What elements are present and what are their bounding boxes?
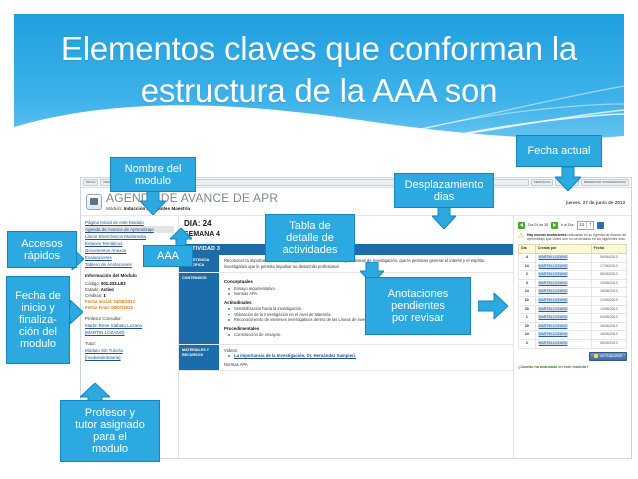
callout-aaa-text: AAA bbox=[144, 250, 192, 262]
table-row[interactable]: 1MARTIN.LOZANO04/06/2013 bbox=[519, 314, 627, 323]
callout-aaa: AAA bbox=[143, 245, 193, 267]
tutor-block: Tutor: Módulo Sin Tutoría [modulosintuto… bbox=[85, 341, 174, 361]
cell-fecha: 04/06/2013 bbox=[591, 314, 626, 323]
table-row[interactable]: 14MARTIN.LOZANO18/06/2013 bbox=[519, 331, 627, 340]
previous-day-label: Día 24 de 35 bbox=[528, 223, 548, 227]
cell-fecha: 26/06/2013 bbox=[591, 322, 626, 331]
table-row[interactable]: 4MARTIN.LOZANO09/06/2013 bbox=[519, 254, 627, 263]
callout-anotaciones-pendientes: Anotaciones pendientes por revisar bbox=[365, 277, 471, 335]
estado-value: Activo bbox=[101, 287, 114, 292]
cell-autor[interactable]: MARTIN.LOZANO bbox=[535, 305, 591, 314]
profesor-block: Profesor Consultor: Martin Rene Siabato … bbox=[85, 316, 174, 336]
cell-dia: 3 bbox=[519, 279, 536, 288]
cell-autor[interactable]: MARTIN.LOZANO bbox=[535, 288, 591, 297]
callout-fecha-inicio-text: Fecha de inicio y finaliza- ción del mod… bbox=[7, 290, 69, 350]
page-title-line2: estructura de la AAA son bbox=[14, 70, 624, 112]
cell-fecha: 10/06/2013 bbox=[591, 279, 626, 288]
cell-dia: 4 bbox=[519, 254, 536, 263]
day-navigation-toolbar: Día 24 de 35 Ir al Día: 24 ▼ bbox=[518, 219, 627, 233]
cell-dia: 10 bbox=[519, 296, 536, 305]
sidebar-link-pagina-inicial[interactable]: Página Inicial de este Módulo bbox=[85, 219, 174, 226]
creditos-label: Créditos: bbox=[85, 293, 102, 298]
callout-tabla-detalle-text: Tabla de detalle de actividades bbox=[266, 220, 354, 256]
callout-accesos-text: Accesos rápidos bbox=[8, 238, 76, 262]
fecha-final-value: 08/07/2013 bbox=[111, 305, 133, 310]
arrow-anotaciones bbox=[478, 293, 508, 319]
annotations-table: Día Creada por Fecha 4MARTIN.LOZANO09/06… bbox=[518, 244, 627, 348]
actualizar-label: ACTUALIZAR bbox=[600, 354, 622, 360]
actualizar-button[interactable]: ACTUALIZAR bbox=[589, 352, 627, 362]
cell-dia: 1 bbox=[519, 314, 536, 323]
module-fecha-final: Fecha Final: 08/07/2013 bbox=[85, 305, 174, 311]
chevron-down-icon: ▼ bbox=[586, 222, 592, 228]
page-title: Elementos claves que conforman la estruc… bbox=[14, 28, 624, 112]
cell-autor[interactable]: MARTIN.LOZANO bbox=[535, 331, 591, 340]
cell-autor[interactable]: MARTIN.LOZANO bbox=[535, 254, 591, 263]
arrow-fecha-actual bbox=[555, 167, 581, 191]
table-row[interactable]: 23MARTIN.LOZANO26/06/2013 bbox=[519, 322, 627, 331]
arrow-desplazamiento bbox=[432, 207, 456, 229]
annotations-warning-text: Hay nuevas anotaciones realizadas en su … bbox=[527, 233, 627, 242]
sidebar-link-libros-electronicos[interactable]: Libros Electrónicos Multimedia bbox=[85, 233, 174, 240]
cell-dia: 14 bbox=[519, 331, 536, 340]
update-row: ACTUALIZAR bbox=[518, 352, 627, 362]
callout-desplazamiento-text: Desplazamiento dias bbox=[395, 179, 493, 203]
goto-day-label: Ir al Día: bbox=[561, 223, 574, 227]
tutor-user-link[interactable]: [modulosintutoria] bbox=[85, 354, 174, 361]
tutor-name-link[interactable]: Módulo Sin Tutoría bbox=[85, 347, 174, 354]
goto-day-value: 24 bbox=[579, 222, 584, 228]
cell-fecha: 05/06/2013 bbox=[591, 271, 626, 280]
table-row[interactable]: 23MARTIN.LOZANO13/06/2013 bbox=[519, 305, 627, 314]
slide: Elementos claves que conforman la estruc… bbox=[0, 0, 638, 479]
table-row[interactable]: 2MARTIN.LOZANO05/06/2013 bbox=[519, 339, 627, 348]
annotations-panel: Día 24 de 35 Ir al Día: 24 ▼ ⚠ Hay nueva… bbox=[513, 216, 631, 459]
module-info-heading: Información del Módulo bbox=[85, 273, 174, 279]
callout-tabla-detalle: Tabla de detalle de actividades bbox=[265, 214, 355, 262]
annotations-warning: ⚠ Hay nuevas anotaciones realizadas en s… bbox=[518, 233, 627, 242]
refresh-icon bbox=[594, 354, 598, 358]
cell-autor[interactable]: MARTIN.LOZANO bbox=[535, 279, 591, 288]
cell-fecha: 13/06/2013 bbox=[591, 305, 626, 314]
callout-fecha-inicio-fin: Fecha de inicio y finaliza- ción del mod… bbox=[6, 276, 70, 364]
cell-autor[interactable]: MARTIN.LOZANO bbox=[535, 314, 591, 323]
cell-dia: 14 bbox=[519, 262, 536, 271]
annotations-table-body: 4MARTIN.LOZANO09/06/2013 14MARTIN.LOZANO… bbox=[519, 254, 627, 349]
profesor-name-link[interactable]: Martin Rene Siabato Lozano bbox=[85, 322, 174, 329]
sidebar-link-agenda-avance[interactable]: Agenda de Avance de Aprendizaje bbox=[85, 226, 174, 233]
nav-tab-servicios[interactable]: SERVICIOS bbox=[531, 179, 554, 186]
profesor-user-link[interactable]: [MARTIN.LOZANO] bbox=[85, 329, 174, 336]
arrow-nombre-modulo bbox=[140, 189, 166, 215]
callout-nombre-modulo: Nombre del modulo bbox=[110, 157, 196, 192]
cell-dia: 14 bbox=[519, 288, 536, 297]
callout-anotaciones-text: Anotaciones pendientes por revisar bbox=[366, 288, 470, 324]
nav-tab-inicio[interactable]: INICIO bbox=[83, 179, 98, 186]
page-title-line1: Elementos claves que conforman la bbox=[14, 28, 624, 70]
contenidos-label: CONTENIDOS bbox=[179, 273, 219, 343]
progress-question: ¿Cuanto ha avanzado en este modulo? bbox=[518, 365, 627, 370]
cell-dia: 23 bbox=[519, 322, 536, 331]
goto-day-button[interactable] bbox=[597, 222, 604, 229]
cell-autor[interactable]: MARTIN.LOZANO bbox=[535, 339, 591, 348]
callout-profesor-tutor: Profesor y tutor asignado para el modulo bbox=[60, 400, 160, 462]
fecha-inicial-value: 04/06/2013 bbox=[113, 299, 135, 304]
table-row[interactable]: 2MARTIN.LOZANO05/06/2013 bbox=[519, 271, 627, 280]
cell-autor[interactable]: MARTIN.LOZANO bbox=[535, 262, 591, 271]
list-item: La importancia de la Investigación, Dr. … bbox=[231, 353, 508, 358]
callout-nombre-modulo-text: Nombre del modulo bbox=[111, 163, 195, 187]
cell-autor[interactable]: MARTIN.LOZANO bbox=[535, 296, 591, 305]
codigo-value: 001.433.LE3 bbox=[101, 281, 126, 286]
embedded-browser-screenshot: INICIO PERFIL MIS CURSOS SERVICIOS RECUR… bbox=[80, 177, 632, 459]
annotations-warning-bold: Hay nuevas anotaciones bbox=[527, 233, 567, 237]
table-row[interactable]: 3MARTIN.LOZANO10/06/2013 bbox=[519, 279, 627, 288]
creditos-value: 1 bbox=[103, 293, 105, 298]
table-header-row: Día Creada por Fecha bbox=[519, 245, 627, 254]
module-label: Módulo: bbox=[106, 206, 122, 211]
goto-day-select[interactable]: 24 ▼ bbox=[577, 221, 594, 230]
col-creada-por: Creada por bbox=[535, 245, 591, 254]
cell-dia: 2 bbox=[519, 339, 536, 348]
cell-dia: 2 bbox=[519, 271, 536, 280]
cell-fecha: 12/06/2013 bbox=[591, 296, 626, 305]
module-line: Módulo: Inducción Aspirantes Maestría bbox=[106, 206, 278, 212]
cell-fecha: 17/06/2013 bbox=[591, 262, 626, 271]
callout-profesor-text: Profesor y tutor asignado para el modulo bbox=[61, 407, 159, 455]
materiales-label: MATERIALES Y RECURSOS bbox=[179, 345, 219, 371]
list-videos: La importancia de la Investigación, Dr. … bbox=[224, 353, 508, 358]
table-row[interactable]: 10MARTIN.LOZANO12/06/2013 bbox=[519, 296, 627, 305]
cell-autor[interactable]: MARTIN.LOZANO bbox=[535, 322, 591, 331]
cell-fecha: 18/06/2013 bbox=[591, 331, 626, 340]
video-link[interactable]: La importancia de la Investigación, Dr. … bbox=[234, 353, 356, 358]
cell-fecha: 09/06/2013 bbox=[591, 254, 626, 263]
materiales-body: Videos: La importancia de la Investigaci… bbox=[219, 345, 513, 371]
table-row[interactable]: 14MARTIN.LOZANO18/06/2013 bbox=[519, 288, 627, 297]
estado-label: Estado: bbox=[85, 287, 100, 292]
agenda-logo-icon bbox=[86, 194, 102, 210]
col-fecha: Fecha bbox=[591, 245, 626, 254]
callout-accesos-rapidos: Accesos rápidos bbox=[7, 231, 77, 268]
normas-apa-text: Normas APA bbox=[224, 362, 508, 368]
callout-fecha-actual: Fecha actual bbox=[516, 135, 602, 167]
fecha-inicial-label: Fecha Inicial: bbox=[85, 299, 112, 304]
cell-dia: 23 bbox=[519, 305, 536, 314]
nav-tab-bienestar[interactable]: BIENESTAR UNIVERSITARIO bbox=[581, 179, 629, 186]
cell-autor[interactable]: MARTIN.LOZANO bbox=[535, 271, 591, 280]
cell-fecha: 05/06/2013 bbox=[591, 339, 626, 348]
warning-icon: ⚠ bbox=[518, 233, 525, 240]
fecha-final-label: Fecha Final: bbox=[85, 305, 110, 310]
col-dia: Día bbox=[519, 245, 536, 254]
app-title: AGENDA DE AVANCE DE APR bbox=[106, 192, 278, 205]
callout-desplazamiento-dias: Desplazamiento dias bbox=[394, 173, 494, 208]
next-day-icon[interactable] bbox=[551, 222, 558, 229]
codigo-label: Código: bbox=[85, 281, 100, 286]
table-row-materiales: MATERIALES Y RECURSOS Videos: La importa… bbox=[179, 345, 513, 372]
current-date: jueves, 27 de junio de 2013 bbox=[566, 200, 625, 206]
callout-fecha-actual-text: Fecha actual bbox=[517, 145, 601, 157]
cell-fecha: 18/06/2013 bbox=[591, 288, 626, 297]
previous-day-icon[interactable] bbox=[518, 222, 525, 229]
table-row[interactable]: 14MARTIN.LOZANO17/06/2013 bbox=[519, 262, 627, 271]
